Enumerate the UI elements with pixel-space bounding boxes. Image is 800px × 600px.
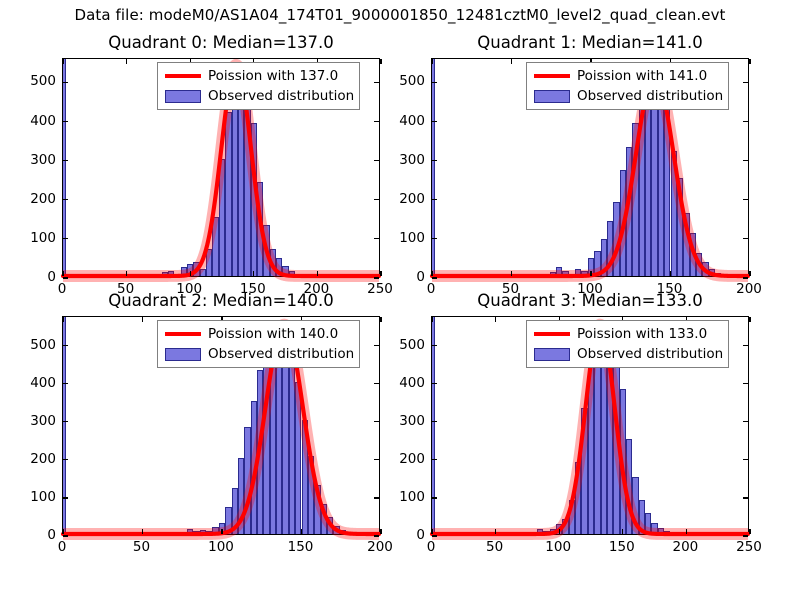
- x-tick-label: 50: [486, 539, 503, 555]
- x-tick-mark: [511, 271, 512, 276]
- legend-label-observed: Observed distribution: [208, 88, 354, 104]
- y-tick-mark: [432, 383, 437, 384]
- histogram-bar: [432, 59, 435, 276]
- y-tick-label: 200: [20, 451, 56, 467]
- x-tick-mark: [511, 59, 512, 64]
- legend-entry-poisson: Poission with 133.0: [531, 324, 723, 344]
- y-tick-label: 500: [20, 73, 56, 89]
- x-tick-mark: [317, 271, 318, 276]
- x-tick-mark: [126, 271, 127, 276]
- y-tick-mark: [374, 345, 379, 346]
- y-tick-label: 200: [20, 191, 56, 207]
- legend-entry-observed: Observed distribution: [531, 344, 723, 364]
- legend-quadrant-0[interactable]: Poission with 137.0 Observed distributio…: [157, 62, 360, 110]
- x-tick-label: 100: [208, 539, 234, 555]
- x-tick-mark: [380, 317, 381, 322]
- y-tick-label: 400: [389, 113, 425, 129]
- y-tick-mark: [374, 421, 379, 422]
- x-tick-label: 0: [427, 539, 436, 555]
- x-tick-mark: [749, 59, 750, 64]
- y-tick-mark: [374, 497, 379, 498]
- legend-quadrant-1[interactable]: Poission with 141.0 Observed distributio…: [526, 62, 729, 110]
- patch-swatch-icon: [534, 90, 570, 103]
- legend-entry-poisson: Poission with 141.0: [531, 66, 723, 86]
- y-tick-mark: [432, 459, 437, 460]
- y-tick-label: 200: [389, 451, 425, 467]
- subplot-title-quadrant-1: Quadrant 1: Median=141.0: [431, 33, 749, 52]
- x-tick-mark: [62, 529, 63, 534]
- x-tick-mark: [590, 271, 591, 276]
- y-tick-label: 0: [389, 527, 425, 543]
- x-tick-mark: [749, 529, 750, 534]
- y-tick-mark: [432, 160, 437, 161]
- x-tick-mark: [495, 317, 496, 322]
- x-tick-mark: [559, 529, 560, 534]
- y-tick-mark: [374, 199, 379, 200]
- histogram-bar: [359, 533, 365, 534]
- x-tick-mark: [431, 59, 432, 64]
- y-tick-label: 500: [389, 337, 425, 353]
- patch-swatch-icon: [534, 348, 570, 361]
- subplot-title-quadrant-2: Quadrant 2: Median=140.0: [62, 291, 380, 310]
- y-tick-mark: [374, 459, 379, 460]
- y-tick-mark: [432, 277, 437, 278]
- y-tick-mark: [432, 497, 437, 498]
- y-tick-label: 300: [20, 413, 56, 429]
- y-tick-mark: [63, 238, 68, 239]
- y-tick-mark: [743, 383, 748, 384]
- y-tick-mark: [743, 199, 748, 200]
- y-tick-mark: [743, 160, 748, 161]
- legend-label-poisson: Poission with 137.0: [208, 68, 338, 84]
- subplot-quadrant-3: Quadrant 3: Median=133.0 050100150200250…: [431, 316, 749, 535]
- y-tick-mark: [374, 277, 379, 278]
- y-tick-label: 100: [389, 230, 425, 246]
- y-tick-mark: [743, 277, 748, 278]
- legend-label-poisson: Poission with 141.0: [577, 68, 707, 84]
- y-tick-label: 300: [389, 152, 425, 168]
- y-tick-mark: [743, 459, 748, 460]
- legend-entry-observed: Observed distribution: [162, 344, 354, 364]
- y-tick-label: 200: [389, 191, 425, 207]
- x-tick-mark: [431, 529, 432, 534]
- x-tick-mark: [380, 59, 381, 64]
- legend-label-poisson: Poission with 140.0: [208, 326, 338, 342]
- x-tick-mark: [190, 271, 191, 276]
- legend-quadrant-2[interactable]: Poission with 140.0 Observed distributio…: [157, 320, 360, 368]
- x-tick-label: 0: [58, 539, 67, 555]
- x-tick-mark: [253, 271, 254, 276]
- subplot-quadrant-0: Quadrant 0: Median=137.0 050100150200250…: [62, 58, 380, 277]
- line-swatch-icon: [165, 332, 201, 336]
- x-tick-label: 150: [288, 539, 314, 555]
- x-tick-mark: [431, 317, 432, 322]
- y-tick-mark: [432, 121, 437, 122]
- y-tick-mark: [432, 421, 437, 422]
- y-tick-mark: [432, 199, 437, 200]
- y-tick-label: 400: [20, 113, 56, 129]
- legend-entry-observed: Observed distribution: [162, 86, 354, 106]
- y-tick-mark: [63, 277, 68, 278]
- x-tick-mark: [301, 529, 302, 534]
- legend-label-observed: Observed distribution: [577, 88, 723, 104]
- line-swatch-icon: [534, 74, 570, 78]
- line-swatch-icon: [165, 74, 201, 78]
- y-tick-mark: [743, 121, 748, 122]
- x-tick-label: 50: [133, 539, 150, 555]
- y-tick-mark: [743, 497, 748, 498]
- legend-label-observed: Observed distribution: [577, 346, 723, 362]
- y-tick-mark: [63, 199, 68, 200]
- y-tick-mark: [63, 160, 68, 161]
- x-tick-mark: [126, 59, 127, 64]
- y-tick-mark: [743, 535, 748, 536]
- histogram-bar: [63, 317, 66, 534]
- patch-swatch-icon: [165, 90, 201, 103]
- x-tick-label: 200: [673, 539, 699, 555]
- y-tick-mark: [63, 535, 68, 536]
- y-tick-label: 0: [389, 269, 425, 285]
- x-tick-mark: [495, 529, 496, 534]
- y-tick-label: 400: [20, 375, 56, 391]
- y-tick-label: 0: [20, 269, 56, 285]
- legend-entry-poisson: Poission with 137.0: [162, 66, 354, 86]
- y-tick-mark: [63, 121, 68, 122]
- y-tick-label: 400: [389, 375, 425, 391]
- x-tick-mark: [686, 529, 687, 534]
- y-tick-mark: [63, 497, 68, 498]
- y-tick-mark: [374, 238, 379, 239]
- y-tick-mark: [63, 345, 68, 346]
- y-tick-mark: [374, 383, 379, 384]
- legend-label-observed: Observed distribution: [208, 346, 354, 362]
- y-tick-mark: [743, 238, 748, 239]
- y-tick-label: 100: [389, 489, 425, 505]
- x-tick-mark: [62, 317, 63, 322]
- legend-label-poisson: Poission with 133.0: [577, 326, 707, 342]
- y-tick-mark: [374, 535, 379, 536]
- y-tick-mark: [432, 535, 437, 536]
- x-tick-label: 100: [545, 539, 571, 555]
- y-tick-mark: [432, 238, 437, 239]
- x-tick-mark: [62, 59, 63, 64]
- y-tick-mark: [743, 82, 748, 83]
- subplot-title-quadrant-0: Quadrant 0: Median=137.0: [62, 33, 380, 52]
- x-tick-mark: [670, 271, 671, 276]
- y-tick-mark: [63, 383, 68, 384]
- y-tick-label: 500: [20, 337, 56, 353]
- x-tick-mark: [622, 529, 623, 534]
- subplot-quadrant-2: Quadrant 2: Median=140.0 050100150200 01…: [62, 316, 380, 535]
- y-tick-label: 500: [389, 73, 425, 89]
- y-tick-label: 300: [389, 413, 425, 429]
- histogram-bar: [63, 59, 66, 276]
- x-tick-mark: [142, 529, 143, 534]
- x-tick-mark: [749, 317, 750, 322]
- figure-canvas: Data file: modeM0/AS1A04_174T01_90000018…: [0, 0, 800, 600]
- x-tick-label: 250: [736, 539, 762, 555]
- x-tick-label: 150: [609, 539, 635, 555]
- x-tick-mark: [380, 529, 381, 534]
- y-tick-label: 300: [20, 152, 56, 168]
- subplot-title-quadrant-3: Quadrant 3: Median=133.0: [431, 291, 749, 310]
- histogram-bar: [728, 275, 734, 276]
- x-tick-mark: [749, 271, 750, 276]
- legend-entry-observed: Observed distribution: [531, 86, 723, 106]
- y-tick-mark: [63, 82, 68, 83]
- patch-swatch-icon: [165, 348, 201, 361]
- y-tick-mark: [743, 345, 748, 346]
- histogram-bar: [432, 317, 435, 534]
- y-tick-mark: [432, 345, 437, 346]
- x-tick-mark: [142, 317, 143, 322]
- y-tick-mark: [432, 82, 437, 83]
- y-tick-mark: [63, 421, 68, 422]
- y-tick-mark: [743, 421, 748, 422]
- x-tick-mark: [221, 529, 222, 534]
- y-tick-mark: [374, 82, 379, 83]
- y-tick-label: 100: [20, 489, 56, 505]
- y-tick-label: 100: [20, 230, 56, 246]
- legend-entry-poisson: Poission with 140.0: [162, 324, 354, 344]
- legend-quadrant-3[interactable]: Poission with 133.0 Observed distributio…: [526, 320, 729, 368]
- y-tick-label: 0: [20, 527, 56, 543]
- y-tick-mark: [374, 121, 379, 122]
- subplot-quadrant-1: Quadrant 1: Median=141.0 050100150200 01…: [431, 58, 749, 277]
- y-tick-mark: [374, 160, 379, 161]
- x-tick-mark: [431, 271, 432, 276]
- x-tick-mark: [380, 271, 381, 276]
- line-swatch-icon: [534, 332, 570, 336]
- x-tick-mark: [62, 271, 63, 276]
- figure-title: Data file: modeM0/AS1A04_174T01_90000018…: [0, 6, 800, 24]
- y-tick-mark: [63, 459, 68, 460]
